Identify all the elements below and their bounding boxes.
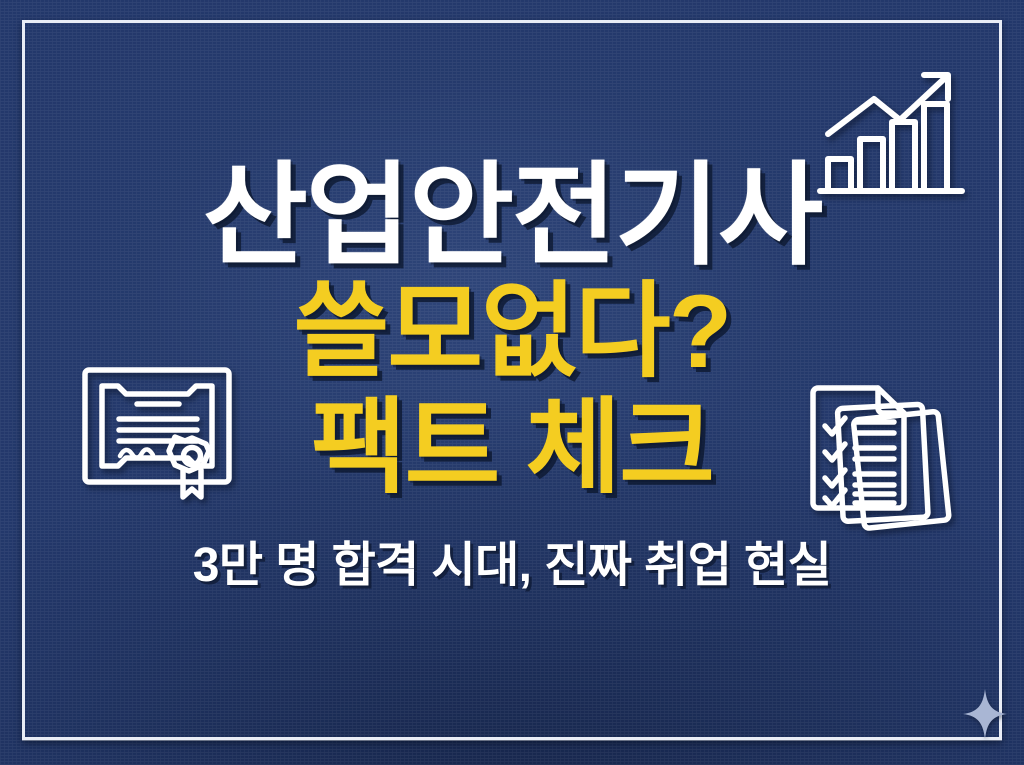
- headline-line-3: 팩트 체크: [0, 396, 1024, 500]
- thumbnail-canvas: 산업안전기사 쓸모없다? 팩트 체크 3만 명 합격 시대, 진짜 취업 현실: [0, 0, 1024, 765]
- headline-line-2: 쓸모없다?: [0, 280, 1024, 384]
- sparkle-icon: [962, 688, 1008, 740]
- headline-line-1: 산업안전기사: [0, 160, 1024, 272]
- subheadline: 3만 명 합격 시대, 진짜 취업 현실: [0, 542, 1024, 590]
- headline-text-stack: 산업안전기사 쓸모없다? 팩트 체크 3만 명 합격 시대, 진짜 취업 현실: [0, 160, 1024, 590]
